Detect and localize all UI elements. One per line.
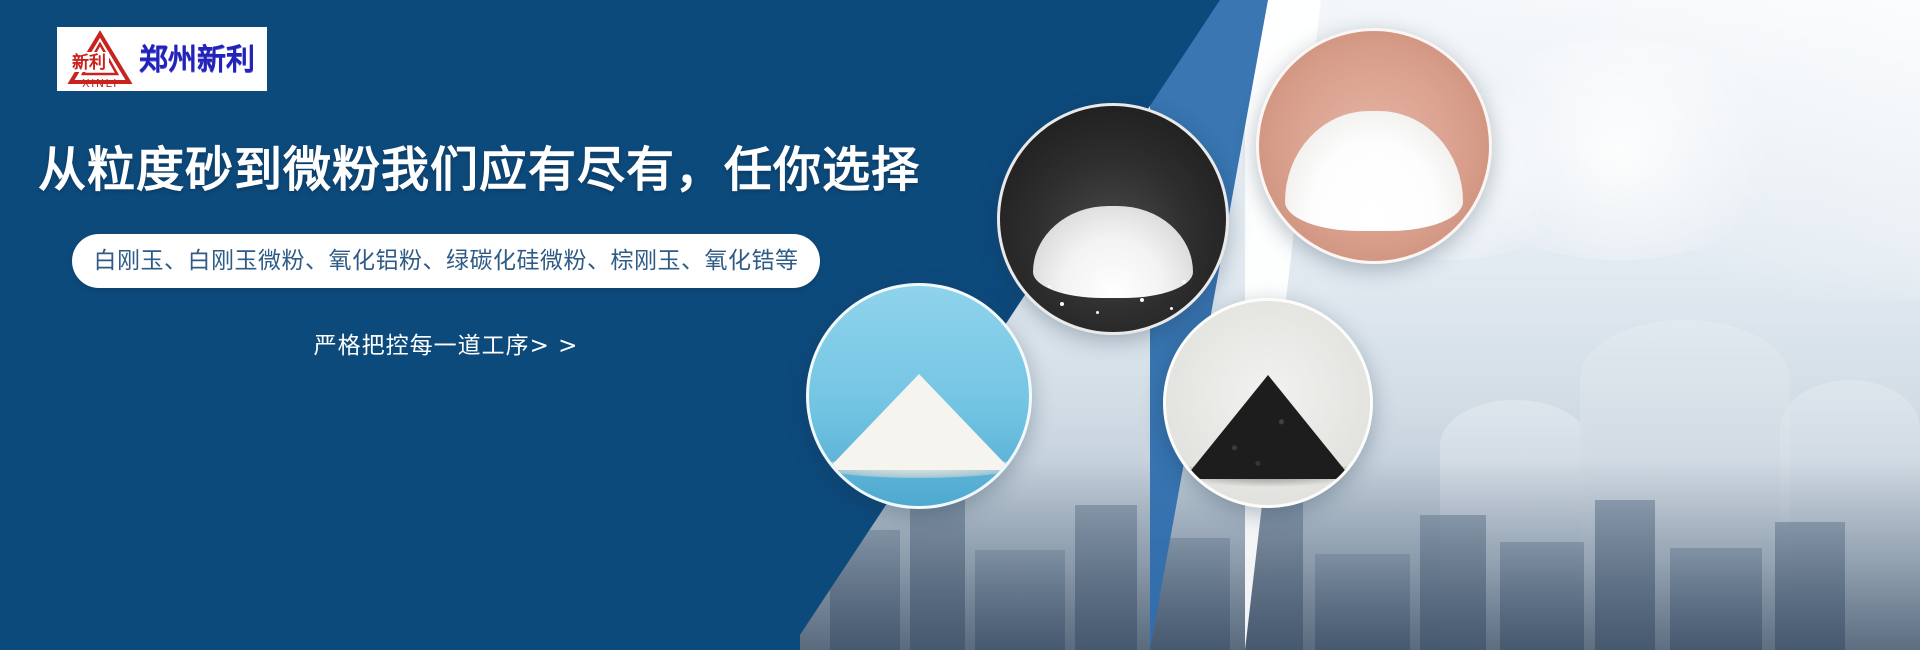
building — [1075, 505, 1137, 650]
building — [1775, 522, 1845, 650]
logo-company-name: 郑州新利 — [139, 45, 255, 74]
product-photo-white-fused-alumina-grains — [997, 103, 1229, 335]
left-content-panel — [0, 0, 800, 650]
building — [1500, 542, 1584, 650]
abrasive-heap — [1285, 111, 1463, 231]
page-title: 从粒度砂到微粉我们应有尽有，任你选择 — [38, 146, 920, 194]
building — [1670, 548, 1762, 650]
abrasive-heap — [827, 374, 1011, 470]
product-list-pill: 白刚玉、白刚玉微粉、氧化铝粉、绿碳化硅微粉、棕刚玉、氧化锆等 — [72, 234, 820, 288]
company-logo[interactable]: 新利 XINLI 郑州新利 — [57, 27, 267, 91]
product-photo-black-silicon-carbide-grit — [1163, 298, 1373, 508]
abrasive-heap — [1033, 206, 1193, 298]
svg-text:XINLI: XINLI — [82, 77, 118, 88]
cta-link[interactable]: 严格把控每一道工序> > — [72, 326, 820, 360]
building — [910, 490, 965, 650]
promotional-banner: 新利 XINLI 郑州新利 从粒度砂到微粉我们应有尽有，任你选择 白刚玉、白刚玉… — [0, 0, 1920, 650]
building — [975, 550, 1065, 650]
building — [1595, 500, 1655, 650]
xinli-triangle-mark-icon: 新利 XINLI — [67, 30, 133, 88]
building — [1315, 554, 1410, 650]
product-photo-white-alumina-micropowder — [1256, 28, 1492, 264]
svg-text:新利: 新利 — [72, 52, 106, 73]
product-photo-white-powder-cone — [806, 283, 1032, 509]
building — [1420, 515, 1486, 650]
product-list-text: 白刚玉、白刚玉微粉、氧化铝粉、绿碳化硅微粉、棕刚玉、氧化锆等 — [94, 250, 799, 273]
